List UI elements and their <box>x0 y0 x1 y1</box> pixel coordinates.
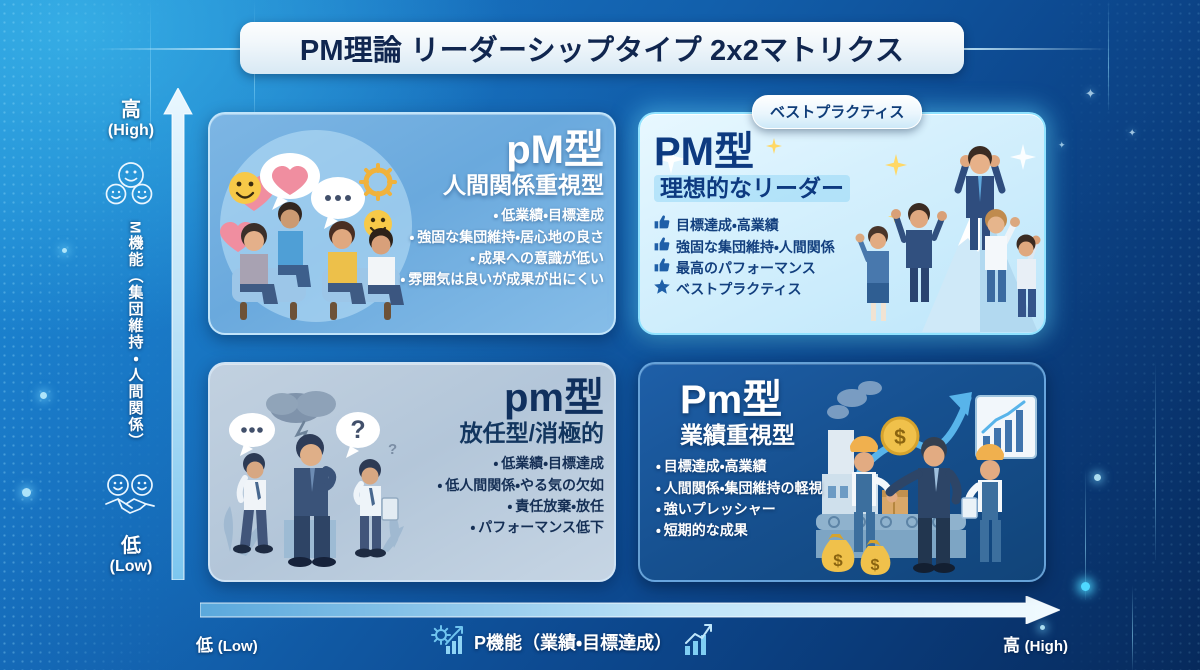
decor-glow-3 <box>40 392 47 399</box>
x-axis-label: P機能（業績・目標達成） <box>474 629 672 655</box>
list-item: ・人間関係・集団維持の軽視 <box>656 478 884 499</box>
svg-text:$: $ <box>871 557 880 574</box>
bullet-marker: ・ <box>656 522 661 538</box>
bullet-text: 低業績・目標達成 <box>501 207 604 223</box>
quadrant-bullets-PM: 目標達成・高業績 強固な集団維持・人間関係 最高のパフォーマンス <box>654 215 886 300</box>
x-axis-low-label: 低 (Low) <box>196 631 258 656</box>
bullet-text: 強固な集団維持・人間関係 <box>676 237 835 258</box>
bullet-marker: ・ <box>656 501 661 517</box>
quadrant-title-pM: pM型 <box>366 130 604 170</box>
bullet-text: ベストプラクティス <box>676 279 801 300</box>
y-axis-high-label: 高 (High) <box>92 100 170 140</box>
bullet-text: 成果への意識が低い <box>478 250 604 266</box>
page-title-text: PM理論 リーダーシップタイプ 2x2マトリクス <box>300 27 904 69</box>
best-practice-badge: ベストプラクティス <box>752 95 922 129</box>
quadrant-subtitle-pM: 人間関係重視型 <box>366 173 604 198</box>
quadrant-card-PM[interactable]: PM型 理想的なリーダー 目標達成・高業績 強固な集団維持・人間関係 <box>638 112 1046 335</box>
handshake-smiley-icon <box>100 472 160 527</box>
list-item: ・強固な集団維持・居心地の良さ <box>366 227 604 248</box>
y-axis-high-jp: 高 <box>92 100 170 122</box>
bullet-marker: ・ <box>507 498 512 514</box>
y-axis-high-en: (High) <box>92 122 170 140</box>
svg-text:$: $ <box>833 551 843 570</box>
x-axis-low-en: (Low) <box>218 638 258 655</box>
decor-glow-5 <box>62 248 67 253</box>
dot-matrix-texture-right <box>1050 0 1200 670</box>
bullet-text: 人間関係・集団維持の軽視 <box>664 480 823 496</box>
decor-glow-4 <box>22 488 31 497</box>
decor-glow-2 <box>1040 625 1045 630</box>
x-axis-low-jp: 低 <box>196 636 213 655</box>
bullet-text: 目標達成・高業績 <box>676 215 779 236</box>
list-item: 強固な集団維持・人間関係 <box>654 237 886 258</box>
quadrant-subtitle-PM: 理想的なリーダー <box>654 175 850 202</box>
bullet-text: 低業績・目標達成 <box>501 455 604 471</box>
bullet-text: 最高のパフォーマンス <box>676 258 816 279</box>
list-item: 目標達成・高業績 <box>654 215 886 236</box>
decor-line-3 <box>1108 0 1109 110</box>
bullet-marker: ・ <box>656 480 661 496</box>
quadrant-bullets-pM: ・低業績・目標達成 ・強固な集団維持・居心地の良さ ・成果への意識が低い ・雰囲… <box>366 205 604 290</box>
bullet-text: 目標達成・高業績 <box>664 458 767 474</box>
bullet-text: 責任放棄・放任 <box>515 498 604 514</box>
bar-chart-arrow-icon <box>682 622 714 661</box>
quadrant-bullets-Pm: ・目標達成・高業績 ・人間関係・集団維持の軽視 ・強いプレッシャー ・短期的な成… <box>656 456 884 541</box>
decor-node-2 <box>1081 582 1090 591</box>
x-axis-high-en: (High) <box>1025 638 1068 655</box>
bullet-marker: ・ <box>493 207 498 223</box>
bullet-marker: ・ <box>656 458 661 474</box>
quadrant-subtitle-Pm: 業績重視型 <box>656 423 884 448</box>
y-axis-low-en: (Low) <box>92 558 170 576</box>
y-axis-low-jp: 低 <box>92 536 170 558</box>
bullet-text: 強いプレッシャー <box>664 501 776 517</box>
list-item: ・低人間関係・やる気の欠如 <box>358 475 604 496</box>
list-item: ・成果への意識が低い <box>366 248 604 269</box>
decor-line-5 <box>1085 470 1086 600</box>
list-item: ・低業績・目標達成 <box>358 453 604 474</box>
title-rule-right <box>958 48 1108 50</box>
list-item: ・目標達成・高業績 <box>656 456 884 477</box>
quadrant-subtitle-pm: 放任型/消極的 <box>358 421 604 446</box>
thumbs-up-icon <box>654 237 670 258</box>
y-axis-low-label: 低 (Low) <box>92 536 170 576</box>
list-item: ・強いプレッシャー <box>656 499 884 520</box>
list-item: ・パフォーマンス低下 <box>358 517 604 538</box>
bullet-marker: ・ <box>470 250 475 266</box>
bullet-text: 雰囲気は良いが成果が出にくい <box>408 271 604 287</box>
bullet-text: 強固な集団維持・居心地の良さ <box>417 229 604 245</box>
decor-glow-1 <box>1094 474 1101 481</box>
quadrant-card-pM[interactable]: pM型 人間関係重視型 ・低業績・目標達成 ・強固な集団維持・居心地の良さ ・成… <box>208 112 616 335</box>
bullet-text: 低人間関係・やる気の欠如 <box>445 477 604 493</box>
quadrant-card-Pm[interactable]: $ <box>638 362 1046 582</box>
decor-sparkle-3: ✦ <box>1058 140 1066 151</box>
quadrant-title-PM: PM型 <box>654 132 886 172</box>
bullet-marker: ・ <box>401 271 406 287</box>
quadrant-text-pm: pm型 放任型/消極的 ・低業績・目標達成 ・低人間関係・やる気の欠如 ・責任放… <box>358 378 604 538</box>
decor-line-6 <box>1132 585 1133 670</box>
star-icon <box>654 279 670 300</box>
y-axis-arrow <box>163 88 193 580</box>
list-item: ・短期的な成果 <box>656 520 884 541</box>
thumbs-up-icon <box>654 215 670 236</box>
list-item: ・低業績・目標達成 <box>366 205 604 226</box>
bullet-marker: ・ <box>409 229 414 245</box>
x-axis-arrow <box>200 596 1060 624</box>
bullet-text: パフォーマンス低下 <box>478 519 604 535</box>
decor-sparkle-2: ✦ <box>1128 128 1136 139</box>
thumbs-up-icon <box>654 258 670 279</box>
quadrant-title-Pm: Pm型 <box>656 380 884 420</box>
title-rule-left <box>96 48 246 50</box>
decor-line-4 <box>1155 360 1156 560</box>
x-axis-center-group: P機能（業績・目標達成） <box>430 622 714 661</box>
list-item: ・雰囲気は良いが成果が出にくい <box>366 269 604 290</box>
bullet-text: 短期的な成果 <box>664 522 748 538</box>
quadrant-text-pM: pM型 人間関係重視型 ・低業績・目標達成 ・強固な集団維持・居心地の良さ ・成… <box>366 130 604 290</box>
x-axis-high-label: 高 (High) <box>1003 631 1068 656</box>
list-item: ・責任放棄・放任 <box>358 496 604 517</box>
x-axis-high-jp: 高 <box>1003 636 1020 655</box>
infographic-canvas: ✦ ✦ ✦ PM理論 リーダーシップタイプ 2x2マトリクス 高 (High) <box>0 0 1200 670</box>
svg-text:$: $ <box>894 426 906 449</box>
quadrant-card-pm[interactable]: ? ? <box>208 362 616 582</box>
quadrant-text-Pm: Pm型 業績重視型 ・目標達成・高業績 ・人間関係・集団維持の軽視 ・強いプレッ… <box>656 380 884 541</box>
quadrant-bullets-pm: ・低業績・目標達成 ・低人間関係・やる気の欠如 ・責任放棄・放任 ・パフォーマン… <box>358 453 604 538</box>
bullet-marker: ・ <box>493 455 498 471</box>
page-title: PM理論 リーダーシップタイプ 2x2マトリクス <box>240 22 964 74</box>
y-axis-label: M機能（集団維持・人間関係） <box>118 205 152 465</box>
quadrant-title-pm: pm型 <box>358 378 604 418</box>
list-item: ベストプラクティス <box>654 279 886 300</box>
list-item: 最高のパフォーマンス <box>654 258 886 279</box>
gear-growth-chart-icon <box>430 622 464 661</box>
quadrant-text-PM: PM型 理想的なリーダー 目標達成・高業績 強固な集団維持・人間関係 <box>654 132 886 300</box>
bullet-marker: ・ <box>471 519 476 535</box>
bullet-marker: ・ <box>437 477 442 493</box>
decor-sparkle-1: ✦ <box>1085 86 1096 102</box>
